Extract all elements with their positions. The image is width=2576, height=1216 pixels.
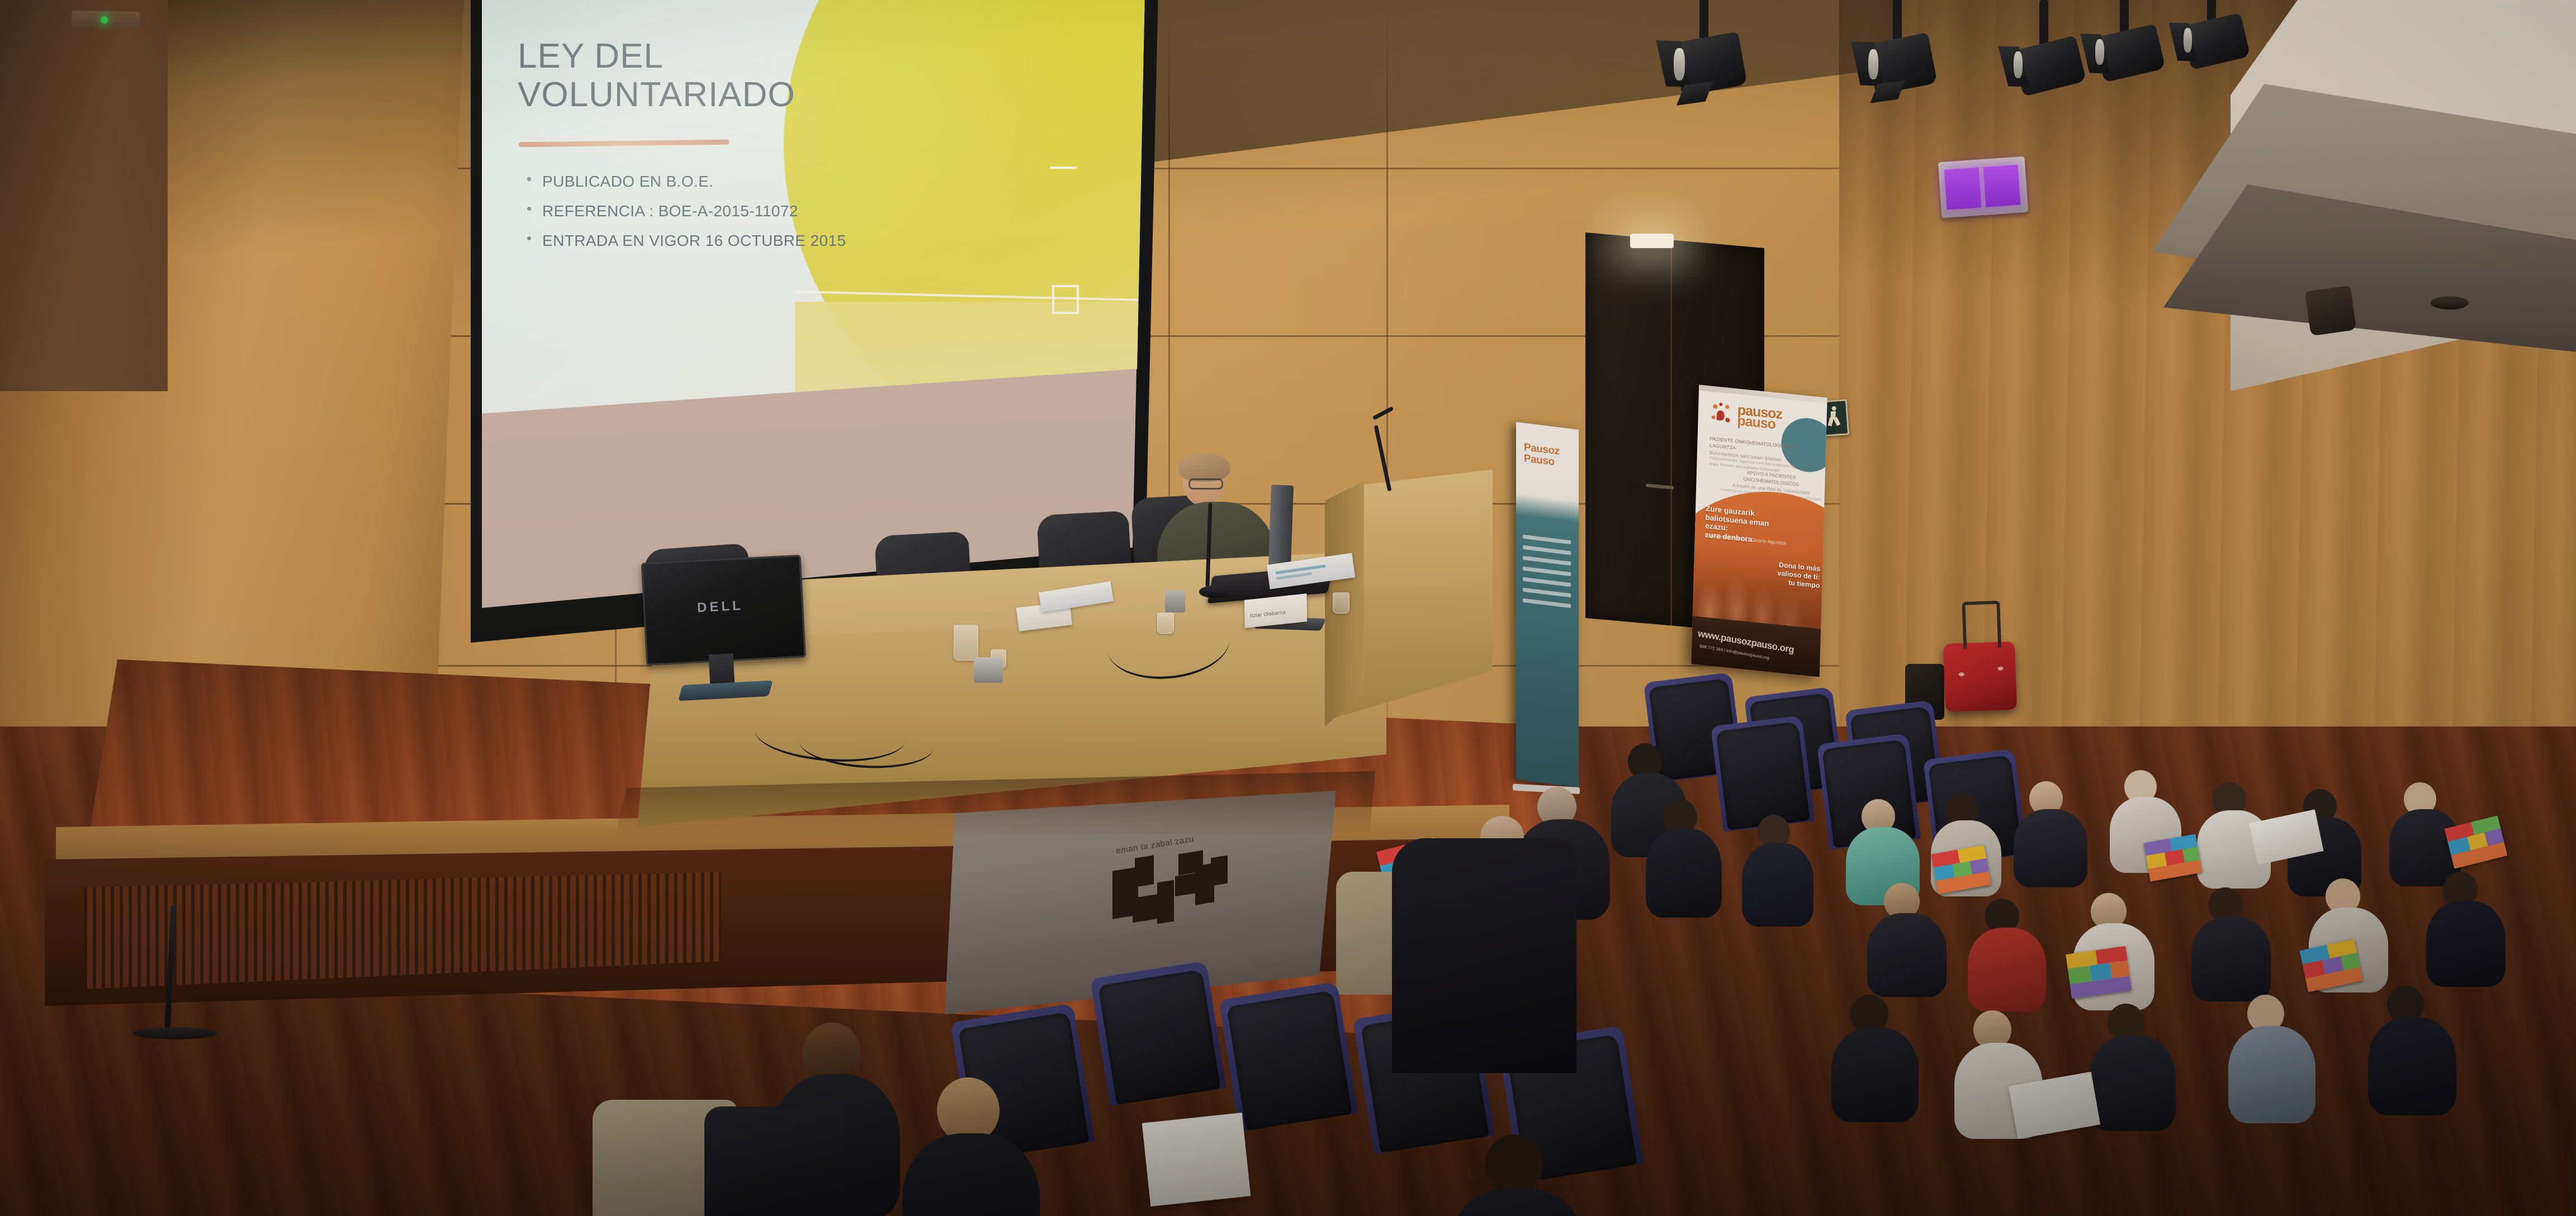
banner-teal-org: Pausoz Pauso: [1524, 441, 1560, 468]
wall-lamp-icon: [1630, 234, 1674, 248]
monitor-brand-label: DELL: [697, 598, 744, 616]
slide-title-line-1: LEY DEL: [518, 37, 831, 75]
slide-bullet: ENTRADA EN VIGOR 16 OCTUBRE 2015: [522, 226, 852, 255]
slide-rule: [519, 140, 729, 148]
projected-slide: LEY DEL VOLUNTARIADO PUBLICADO EN B.O.E.…: [482, 0, 1145, 414]
speaker-glasses-icon: [1188, 478, 1223, 490]
ceiling-downlight-icon: [2431, 296, 2469, 310]
program-booklet: [2066, 946, 2132, 999]
speaker-name-text: Itziar Olabarria: [1250, 609, 1286, 619]
draped-coat: [1392, 838, 1576, 1073]
upv-ehu-logo-icon: [1112, 852, 1241, 958]
water-pitcher: [954, 625, 978, 661]
floor-microphone-base: [133, 1027, 217, 1039]
ceiling-speaker-icon: [2305, 286, 2356, 336]
pausoz-pauso-logo: pausoz pauso: [1711, 401, 1818, 437]
speaker-hair: [1178, 453, 1230, 482]
slide-bullet: PUBLICADO EN B.O.E.: [522, 167, 852, 196]
rollup-banner-teal: Pausoz Pauso: [1516, 422, 1579, 787]
draped-coat: [704, 1106, 844, 1216]
auditorium-photo: LEY DEL VOLUNTARIADO PUBLICADO EN B.O.E.…: [0, 0, 2576, 1216]
exclamation-mark-icon: [1045, 167, 1082, 306]
banner-org-line-2: pauso: [1737, 414, 1775, 432]
slide-bullet: REFERENCIA : BOE-A-2015-11072: [522, 196, 852, 226]
slide-title-line-2: VOLUNTARIADO: [518, 75, 831, 114]
green-led-icon: [101, 16, 108, 23]
door-handle[interactable]: [1646, 483, 1674, 489]
dell-monitor: DELL: [641, 555, 804, 680]
drinking-glass: [1333, 592, 1349, 614]
left-wall-shadow: [0, 0, 168, 391]
rollup-banner-pausoz-pauso: pausoz pauso PAZIENTE ONKOHEMATOLOGIKOEI…: [1691, 384, 1827, 677]
uv-panel-light: [1938, 156, 2029, 218]
wall-indicator-panel: [72, 11, 140, 28]
red-rolling-suitcase: [1943, 642, 2017, 712]
suitcase-handle: [1962, 601, 2001, 649]
slide-bullet-list: PUBLICADO EN B.O.E. REFERENCIA : BOE-A-2…: [522, 167, 852, 256]
notepad: [1142, 1113, 1251, 1206]
slide-title: LEY DEL VOLUNTARIADO: [518, 37, 831, 115]
metal-cup: [974, 657, 1003, 683]
